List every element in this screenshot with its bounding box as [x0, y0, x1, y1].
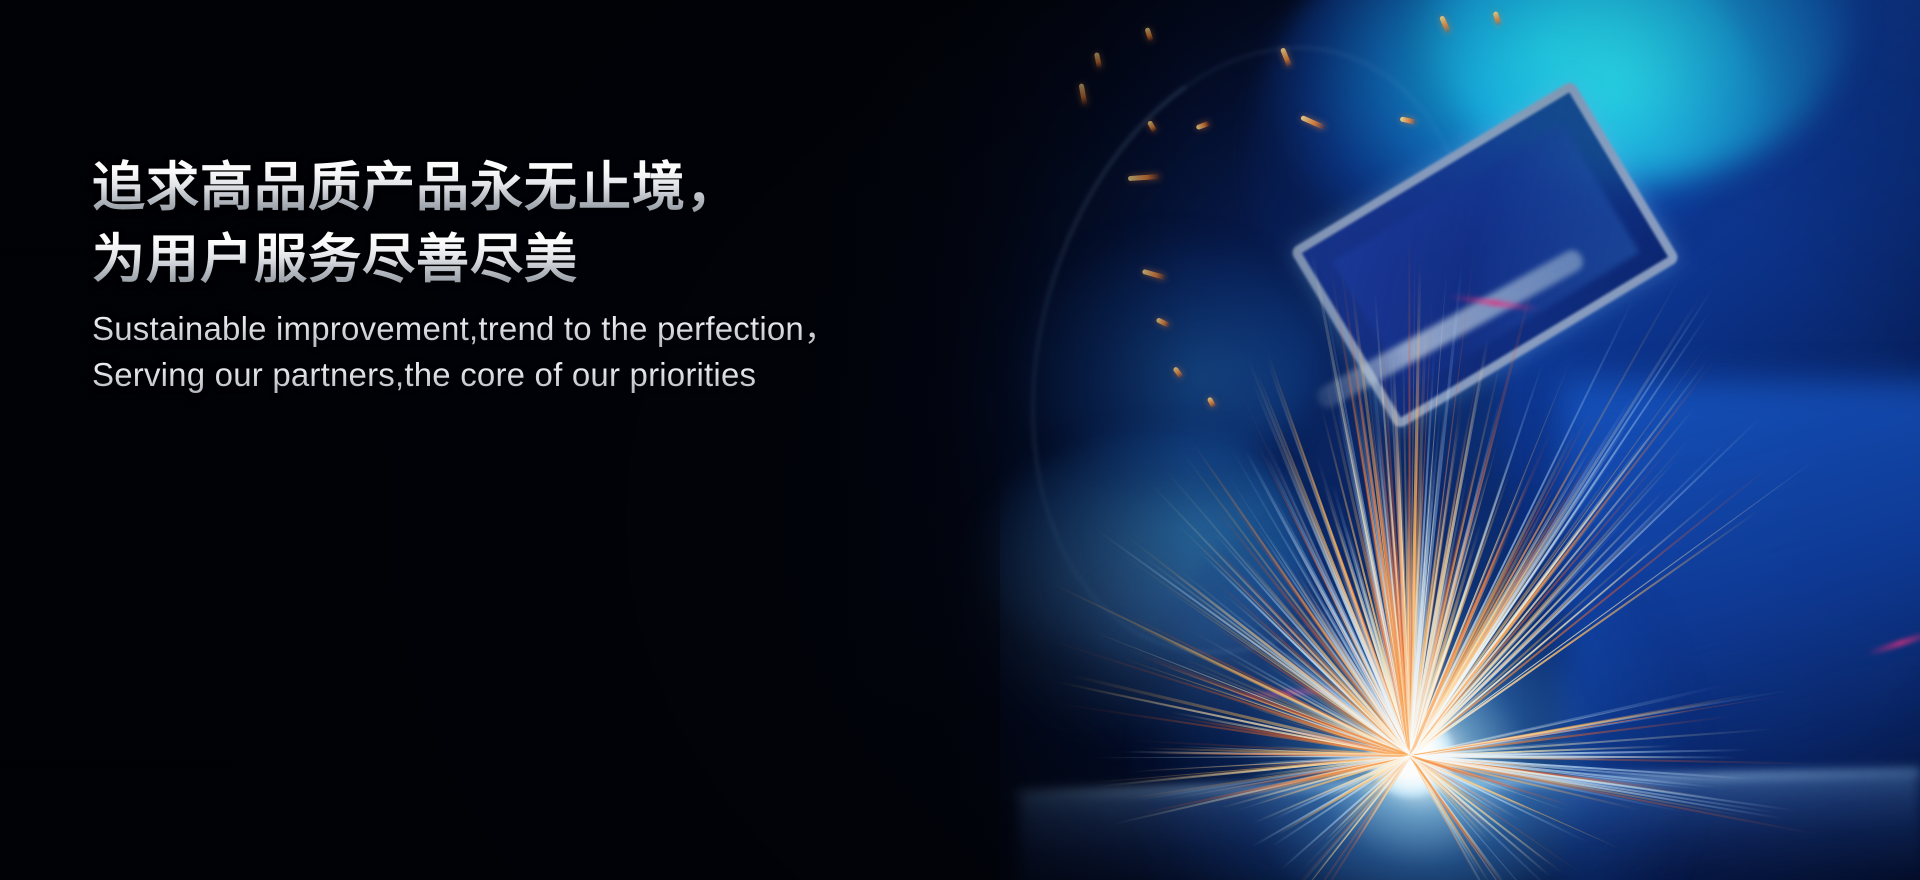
subhead-en-block: Sustainable improvement,trend to the per…: [92, 306, 837, 398]
headline-cn-line-1: 追求高品质产品永无止境，: [92, 152, 837, 224]
vignette: [0, 0, 1920, 880]
headline-cn-line-2: 为用户服务尽善尽美: [92, 224, 837, 296]
hero-banner: 追求高品质产品永无止境， 为用户服务尽善尽美 Sustainable impro…: [0, 0, 1920, 880]
subhead-en-line-2: Serving our partners,the core of our pri…: [92, 352, 837, 398]
subhead-en-line-1: Sustainable improvement,trend to the per…: [92, 306, 837, 352]
hero-copy-block: 追求高品质产品永无止境， 为用户服务尽善尽美 Sustainable impro…: [92, 152, 837, 398]
welding-photo-background: [0, 0, 1920, 880]
